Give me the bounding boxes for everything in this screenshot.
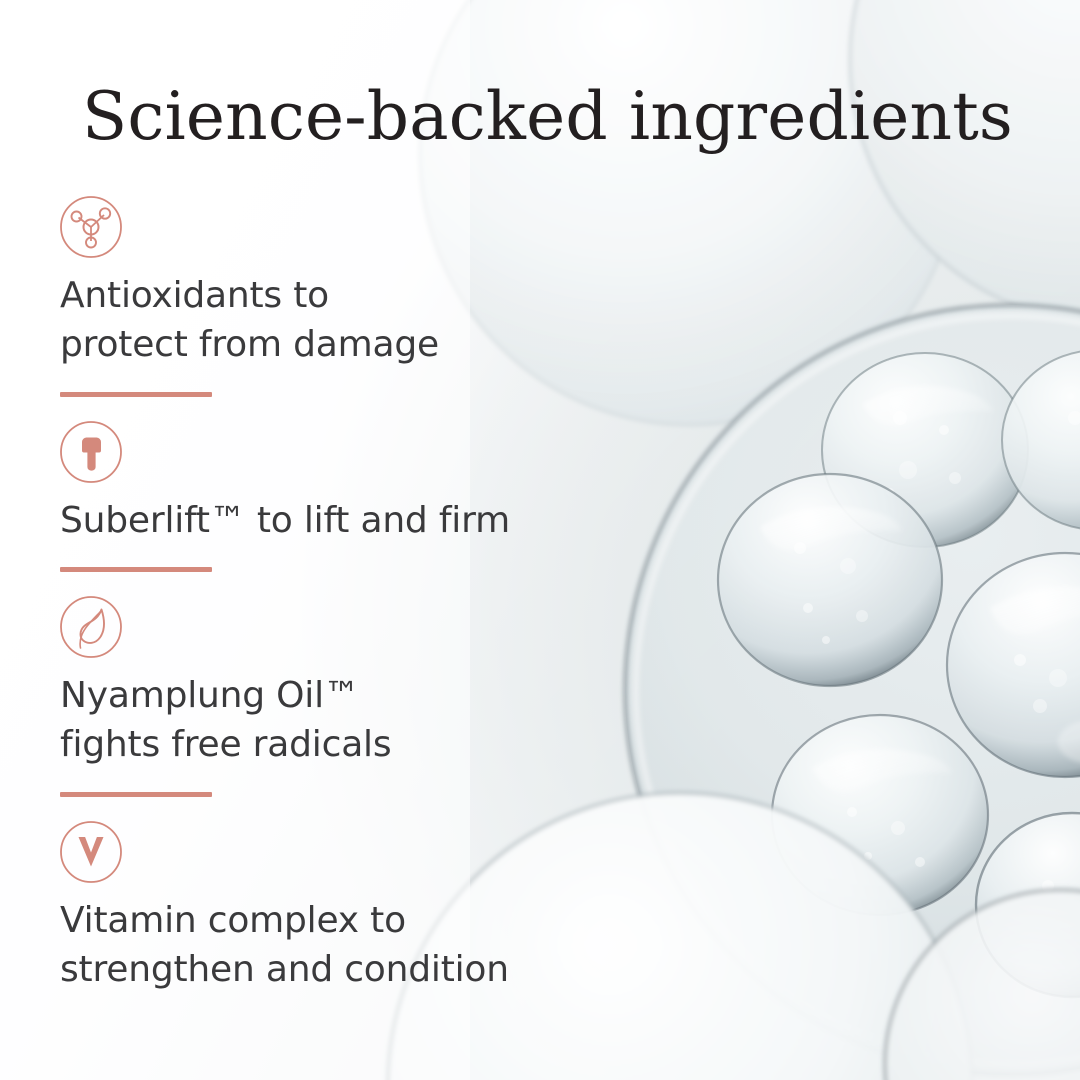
ingredient-item-vitamin-complex: Vitamin complex to strengthen and condit…	[60, 821, 740, 995]
ingredient-divider	[60, 392, 212, 397]
ingredient-label: Antioxidants to protect from damage	[60, 271, 740, 370]
ingredient-list: Antioxidants to protect from damage Sube…	[60, 196, 740, 994]
ingredient-divider	[60, 567, 212, 572]
leaf-icon	[60, 596, 122, 658]
ingredient-item-suberlift: Suberlift™ to lift and firm	[60, 421, 740, 572]
promo-canvas: Science-backed ingredients	[0, 0, 1080, 1080]
ingredient-label: Vitamin complex to strengthen and condit…	[60, 896, 740, 995]
ingredient-divider	[60, 792, 212, 797]
ingredient-label: Suberlift™ to lift and firm	[60, 496, 740, 545]
ingredient-item-nyamplung-oil: Nyamplung Oil™ fights free radicals	[60, 596, 740, 797]
page-title: Science-backed ingredients	[82, 78, 1013, 155]
ingredient-label: Nyamplung Oil™ fights free radicals	[60, 671, 740, 770]
dropper-icon	[60, 421, 122, 483]
content-layer: Science-backed ingredients	[0, 0, 1080, 1080]
ingredient-item-antioxidants: Antioxidants to protect from damage	[60, 196, 740, 397]
vitamin-v-icon	[60, 821, 122, 883]
molecule-icon	[60, 196, 122, 258]
